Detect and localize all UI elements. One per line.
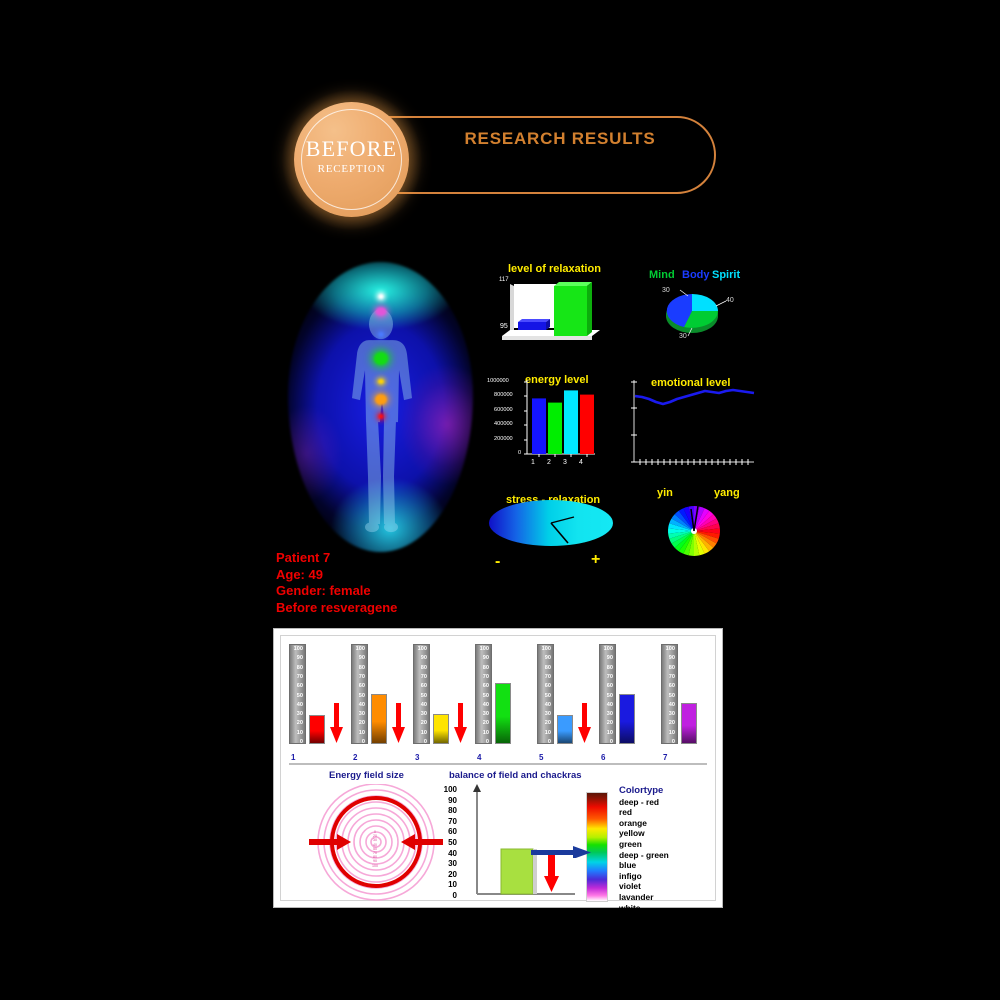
colortype-item-1: red xyxy=(619,807,669,818)
chakra-scale-tick: 100 xyxy=(294,647,303,653)
colortype-title: Colortype xyxy=(619,786,669,797)
balance-ytick: 100 xyxy=(439,786,457,794)
relaxation-axis-top: 117 xyxy=(499,277,509,283)
chakra-scale-tick: 20 xyxy=(297,721,303,727)
chakra-scale-tick: 40 xyxy=(483,703,489,709)
chakra-scale: 1009080706050403020100 xyxy=(661,644,678,744)
energy-xtick-4: 4 xyxy=(579,459,583,466)
chakra-bar-1: 10090807060504030201001 xyxy=(289,642,347,762)
relaxation-axis-bottom: 95 xyxy=(500,323,508,330)
chakra-index-label: 5 xyxy=(539,753,543,762)
chakra-scale-tick: 30 xyxy=(483,712,489,718)
chakra-scale-tick: 90 xyxy=(483,656,489,662)
chakra-index-label: 4 xyxy=(477,753,481,762)
chakra-scale-tick: 20 xyxy=(669,721,675,727)
relaxation-chart-title: level of relaxation xyxy=(508,263,601,275)
chakra-scale-tick: 80 xyxy=(669,666,675,672)
chakra-scale-tick: 30 xyxy=(359,712,365,718)
chakra-scale-tick: 0 xyxy=(672,740,675,746)
patient-age: Age: 49 xyxy=(276,567,397,584)
gauge-plus-label: + xyxy=(591,551,600,569)
chakra-scale-tick: 50 xyxy=(545,694,551,700)
balance-ytick: 10 xyxy=(439,881,457,889)
chakra-scale-tick: 0 xyxy=(424,740,427,746)
balance-ytick: 80 xyxy=(439,807,457,815)
chakra-scale-tick: 60 xyxy=(421,684,427,690)
chakra-scale-tick: 30 xyxy=(421,712,427,718)
yang-label: yang xyxy=(714,487,740,499)
colortype-item-5: deep - green xyxy=(619,850,669,861)
chakra-scale-tick: 10 xyxy=(545,731,551,737)
chakra-scale-tick: 40 xyxy=(421,703,427,709)
chakra-scale-tick: 20 xyxy=(607,721,613,727)
energy-ytick-5: 1000000 xyxy=(487,378,509,384)
chakra-scale-tick: 10 xyxy=(607,731,613,737)
results-panel-border: 1009080706050403020100110090807060504030… xyxy=(280,635,716,901)
chakra-scale-tick: 80 xyxy=(297,666,303,672)
energy-xtick-2: 2 xyxy=(547,459,551,466)
colortype-item-9: lavander xyxy=(619,892,669,903)
chakra-scale-tick: 50 xyxy=(607,694,613,700)
energy-ytick-4: 800000 xyxy=(494,392,513,398)
chakra-index-label: 3 xyxy=(415,753,419,762)
relaxation-chart xyxy=(496,278,604,346)
chakra-scale-tick: 80 xyxy=(359,666,365,672)
badge-subtitle: RECEPTION xyxy=(294,163,409,175)
chakra-scale-tick: 30 xyxy=(669,712,675,718)
pie-value-spirit: 40 xyxy=(726,297,734,304)
patient-name: Patient 7 xyxy=(276,550,397,567)
energy-field-title: Energy field size xyxy=(329,770,404,781)
chakra-scale-tick: 20 xyxy=(421,721,427,727)
chakra-scale-tick: 0 xyxy=(610,740,613,746)
chakra-dot-throat xyxy=(378,332,383,337)
chakra-scale-tick: 70 xyxy=(483,675,489,681)
chakra-value-bar xyxy=(681,703,697,744)
energy-ytick-3: 600000 xyxy=(494,407,513,413)
chakra-down-arrow xyxy=(578,702,591,744)
chakra-dot-heart xyxy=(374,352,388,365)
chakra-scale-tick: 10 xyxy=(297,731,303,737)
before-reception-badge[interactable]: BEFORE RECEPTION xyxy=(294,102,409,217)
patient-stage: Before resveragene xyxy=(276,600,397,617)
colortype-marker-arrow xyxy=(531,846,591,858)
colortype-item-6: blue xyxy=(619,860,669,871)
chakra-down-arrow xyxy=(392,702,405,744)
chakra-bar-7: 10090807060504030201007 xyxy=(661,642,719,762)
chakra-scale-tick: 50 xyxy=(483,694,489,700)
chakra-scale-tick: 40 xyxy=(359,703,365,709)
chakra-dot-solar xyxy=(378,379,384,384)
chakra-scale-tick: 60 xyxy=(669,684,675,690)
chakra-scale-tick: 90 xyxy=(297,656,303,662)
chakra-scale-tick: 60 xyxy=(359,684,365,690)
chakra-scale-tick: 40 xyxy=(545,703,551,709)
chakra-dot-sacral xyxy=(375,394,387,405)
chakra-value-bar xyxy=(433,714,449,744)
colortype-list: Colortype deep - red red orange yellow g… xyxy=(619,786,669,913)
energy-ytick-0: 0 xyxy=(518,450,521,456)
balance-ytick: 70 xyxy=(439,818,457,826)
chakra-scale-tick: 0 xyxy=(486,740,489,746)
chakra-scale: 1009080706050403020100 xyxy=(351,644,368,744)
stress-relaxation-gauge xyxy=(488,498,614,548)
chakra-scale-tick: 10 xyxy=(421,731,427,737)
chakra-scale-tick: 100 xyxy=(356,647,365,653)
chakra-down-arrow xyxy=(330,702,343,744)
balance-title: balance of field and chackras xyxy=(449,770,582,781)
page-title: RESEARCH RESULTS xyxy=(410,100,710,178)
human-silhouette-icon xyxy=(344,308,418,534)
chakra-scale-tick: 90 xyxy=(421,656,427,662)
balance-ytick: 20 xyxy=(439,871,457,879)
chakra-scale-tick: 30 xyxy=(545,712,551,718)
ring-label: 100 xyxy=(367,864,383,868)
chakra-scale-tick: 100 xyxy=(604,647,613,653)
chakra-scale-tick: 70 xyxy=(359,675,365,681)
balance-chart xyxy=(453,782,578,906)
results-panel: 1009080706050403020100110090807060504030… xyxy=(273,628,723,908)
yin-yang-color-wheel xyxy=(658,500,730,562)
chakra-dot-crown xyxy=(378,294,383,299)
chakra-value-bar xyxy=(619,694,635,744)
chakra-scale-tick: 90 xyxy=(607,656,613,662)
colortype-item-3: yellow xyxy=(619,828,669,839)
badge-title: BEFORE xyxy=(294,136,409,162)
chakra-scale: 1009080706050403020100 xyxy=(475,644,492,744)
colortype-item-4: green xyxy=(619,839,669,850)
chakra-scale-tick: 30 xyxy=(607,712,613,718)
chakra-scale-tick: 80 xyxy=(607,666,613,672)
chakra-scale-tick: 50 xyxy=(669,694,675,700)
chakra-scale-tick: 20 xyxy=(359,721,365,727)
chakra-down-arrow xyxy=(454,702,467,744)
chakra-bar-4: 10090807060504030201004 xyxy=(475,642,533,762)
colortype-item-2: orange xyxy=(619,818,669,829)
colortype-item-7: infigo xyxy=(619,871,669,882)
chakra-scale-tick: 10 xyxy=(483,731,489,737)
balance-ytick: 0 xyxy=(439,892,457,900)
colortype-item-0: deep - red xyxy=(619,797,669,808)
chakra-scale-tick: 100 xyxy=(666,647,675,653)
balance-ytick: 90 xyxy=(439,797,457,805)
chakra-scale-tick: 10 xyxy=(359,731,365,737)
chakra-scale-tick: 70 xyxy=(607,675,613,681)
chakra-scale-tick: 40 xyxy=(607,703,613,709)
chakra-bars-chart: 1009080706050403020100110090807060504030… xyxy=(289,642,707,762)
chakra-scale-tick: 70 xyxy=(669,675,675,681)
chakra-scale-tick: 60 xyxy=(483,684,489,690)
chakra-scale-tick: 80 xyxy=(421,666,427,672)
chakra-bar-2: 10090807060504030201002 xyxy=(351,642,409,762)
chakra-index-label: 2 xyxy=(353,753,357,762)
chakra-value-bar xyxy=(309,715,325,744)
patient-info: Patient 7 Age: 49 Gender: female Before … xyxy=(276,550,397,616)
chakra-bar-6: 10090807060504030201006 xyxy=(599,642,657,762)
chakra-baseline xyxy=(289,763,707,765)
balance-ytick: 50 xyxy=(439,839,457,847)
chakra-scale-tick: 40 xyxy=(669,703,675,709)
chakra-scale-tick: 70 xyxy=(297,675,303,681)
screenshot-root: RESEARCH RESULTS BEFORE RECEPTION xyxy=(0,0,1000,1000)
chakra-bar-3: 10090807060504030201003 xyxy=(413,642,471,762)
chakra-scale-tick: 100 xyxy=(480,647,489,653)
chakra-scale-tick: 90 xyxy=(669,656,675,662)
chakra-scale-tick: 50 xyxy=(297,694,303,700)
chakra-scale-tick: 50 xyxy=(421,694,427,700)
chakra-scale: 1009080706050403020100 xyxy=(537,644,554,744)
chakra-scale: 1009080706050403020100 xyxy=(413,644,430,744)
chakra-scale: 1009080706050403020100 xyxy=(599,644,616,744)
chakra-bar-5: 10090807060504030201005 xyxy=(537,642,595,762)
chakra-scale: 1009080706050403020100 xyxy=(289,644,306,744)
energy-field-ring-labels: 020304050708090100 xyxy=(367,830,383,868)
energy-xtick-1: 1 xyxy=(531,459,535,466)
chakra-scale-tick: 70 xyxy=(545,675,551,681)
chakra-index-label: 1 xyxy=(291,753,295,762)
chakra-scale-tick: 0 xyxy=(300,740,303,746)
chakra-scale-tick: 20 xyxy=(483,721,489,727)
chakra-scale-tick: 40 xyxy=(297,703,303,709)
chakra-scale-tick: 50 xyxy=(359,694,365,700)
chakra-scale-tick: 100 xyxy=(418,647,427,653)
chakra-scale-tick: 30 xyxy=(297,712,303,718)
header: RESEARCH RESULTS BEFORE RECEPTION xyxy=(290,100,720,212)
chakra-scale-tick: 80 xyxy=(545,666,551,672)
chakra-dot-root xyxy=(378,414,383,419)
gauge-minus-label: - xyxy=(495,553,500,571)
chakra-scale-tick: 90 xyxy=(359,656,365,662)
chakra-index-label: 7 xyxy=(663,753,667,762)
chakra-index-label: 6 xyxy=(601,753,605,762)
pie-value-body: 30 xyxy=(679,333,687,340)
colortype-item-10: white xyxy=(619,903,669,914)
balance-ytick: 40 xyxy=(439,850,457,858)
chakra-scale-tick: 20 xyxy=(545,721,551,727)
patient-gender: Gender: female xyxy=(276,583,397,600)
chakra-scale-tick: 10 xyxy=(669,731,675,737)
colortype-item-8: violet xyxy=(619,881,669,892)
balance-ytick: 60 xyxy=(439,828,457,836)
chakra-scale-tick: 60 xyxy=(297,684,303,690)
chakra-value-bar xyxy=(557,715,573,744)
chakra-scale-tick: 0 xyxy=(548,740,551,746)
chakra-value-bar xyxy=(495,683,511,744)
aura-image xyxy=(288,262,473,552)
chakra-scale-tick: 70 xyxy=(421,675,427,681)
balance-ytick: 30 xyxy=(439,860,457,868)
chakra-scale-tick: 60 xyxy=(607,684,613,690)
chakra-dot-thirdeye xyxy=(375,307,386,316)
energy-xtick-3: 3 xyxy=(563,459,567,466)
emotional-level-chart xyxy=(628,378,756,470)
chakra-scale-tick: 60 xyxy=(545,684,551,690)
chakra-scale-tick: 90 xyxy=(545,656,551,662)
pie-value-mind: 30 xyxy=(662,287,670,294)
energy-ytick-1: 200000 xyxy=(494,436,513,442)
energy-ytick-2: 400000 xyxy=(494,421,513,427)
chakra-scale-tick: 100 xyxy=(542,647,551,653)
yin-label: yin xyxy=(657,487,673,499)
chakra-scale-tick: 0 xyxy=(362,740,365,746)
chakra-scale-tick: 80 xyxy=(483,666,489,672)
chakra-value-bar xyxy=(371,694,387,744)
